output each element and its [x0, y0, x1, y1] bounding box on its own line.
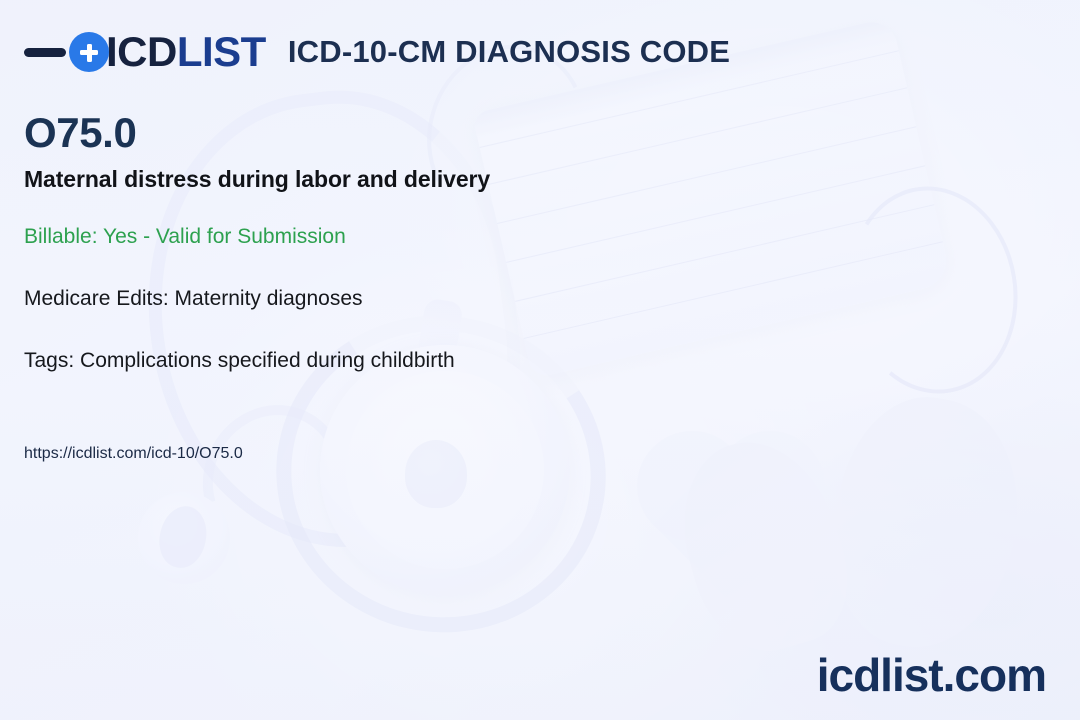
plus-circle-icon: [69, 32, 109, 72]
header: ICDLIST ICD-10-CM DIAGNOSIS CODE: [24, 24, 730, 80]
billable-status: Billable: Yes - Valid for Submission: [24, 224, 346, 249]
page-title: ICD-10-CM DIAGNOSIS CODE: [288, 34, 730, 70]
icd-code-card: ICDLIST ICD-10-CM DIAGNOSIS CODE O75.0 M…: [0, 0, 1080, 720]
card-content: ICDLIST ICD-10-CM DIAGNOSIS CODE O75.0 M…: [0, 0, 1080, 720]
source-url[interactable]: https://icdlist.com/icd-10/O75.0: [24, 444, 243, 463]
medicare-edits: Medicare Edits: Maternity diagnoses: [24, 286, 363, 311]
logo-word-icd: ICD: [106, 28, 177, 75]
tags-line: Tags: Complications specified during chi…: [24, 348, 455, 373]
logo-wordmark: ICDLIST: [106, 31, 266, 73]
minus-dash-icon: [24, 48, 66, 57]
icdlist-logo[interactable]: ICDLIST: [24, 24, 266, 80]
diagnosis-description: Maternal distress during labor and deliv…: [24, 166, 490, 194]
logo-word-list: LIST: [177, 28, 266, 75]
diagnosis-code: O75.0: [24, 112, 136, 154]
brand-footer: icdlist.com: [817, 652, 1046, 698]
